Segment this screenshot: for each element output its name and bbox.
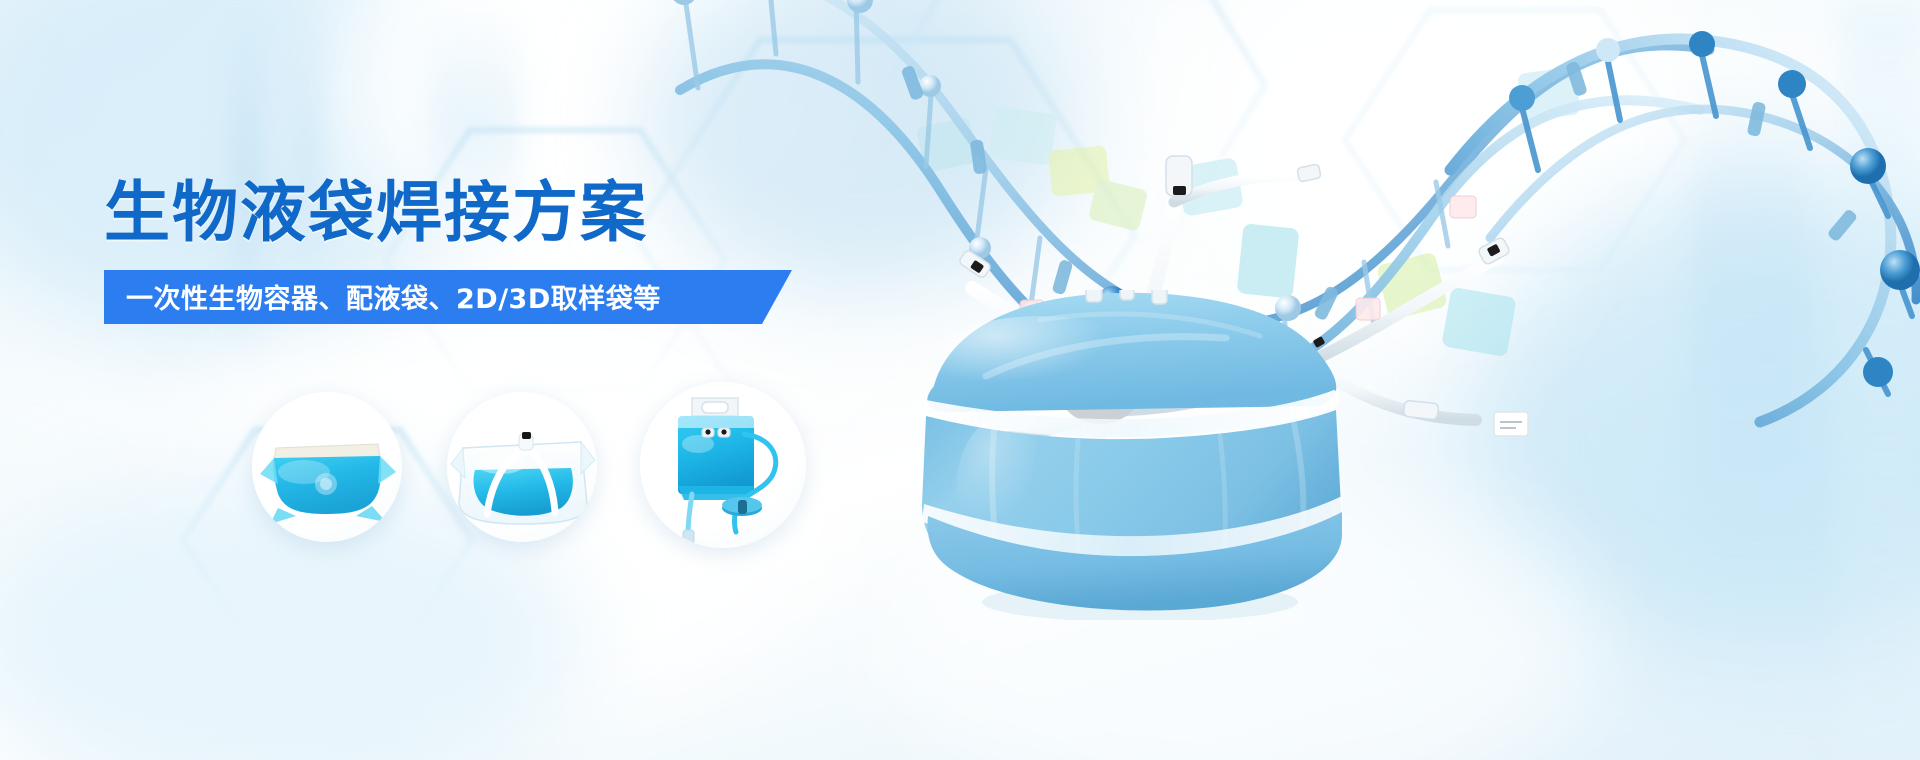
headline-block: 生物液袋焊接方案 一次性生物容器、配液袋、2D/3D取样袋等 (104, 178, 844, 324)
3d-dispensing-bag-icon (640, 382, 806, 548)
product-circle-3d-dispensing-bag[interactable] (640, 382, 806, 548)
subtitle-banner: 一次性生物容器、配液袋、2D/3D取样袋等 (104, 270, 792, 324)
product-circle-2d-sampling-bag[interactable] (447, 392, 597, 542)
subtitle-text: 一次性生物容器、配液袋、2D/3D取样袋等 (104, 277, 661, 316)
promo-banner: 生物液袋焊接方案 一次性生物容器、配液袋、2D/3D取样袋等 (0, 0, 1920, 760)
page-title: 生物液袋焊接方案 (104, 178, 844, 248)
3d-bioreactor-bag-icon (890, 290, 1370, 620)
product-thumbnails (252, 382, 872, 562)
pillow-liquid-bag-icon (252, 392, 402, 542)
product-circle-pillow-liquid-bag[interactable] (252, 392, 402, 542)
2d-sampling-bag-icon (447, 392, 597, 542)
